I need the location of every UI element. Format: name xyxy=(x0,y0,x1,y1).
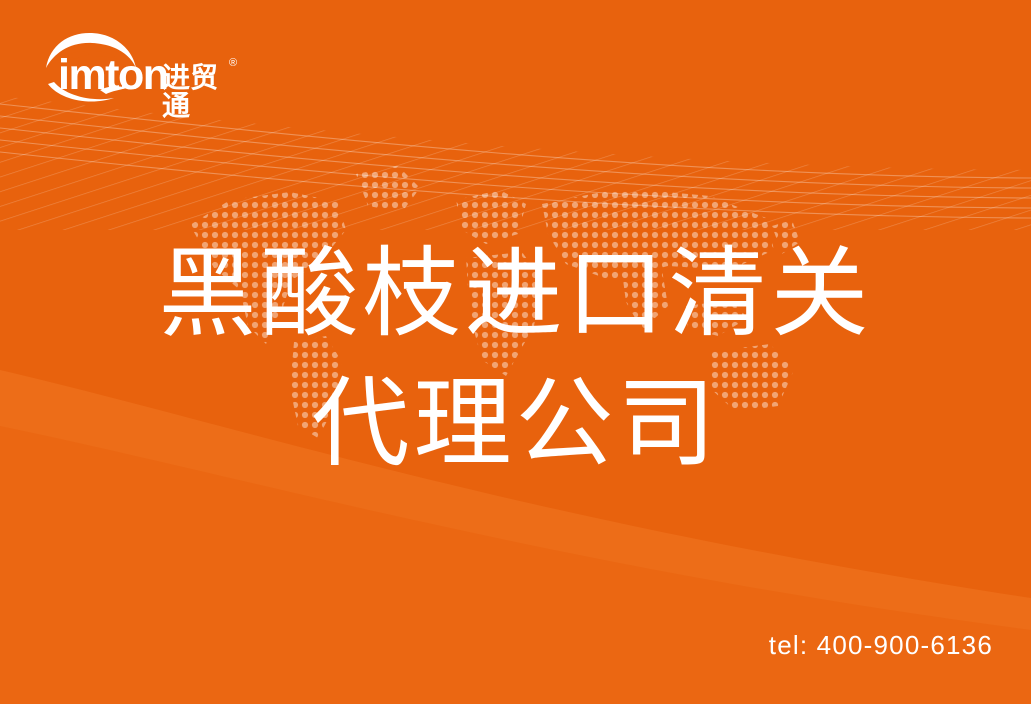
imton-logo[interactable]: imton 进贸通 ® xyxy=(34,28,244,106)
logo-chinese-name: 进贸通 xyxy=(162,64,244,120)
promo-banner: imton 进贸通 ® 黑酸枝进口清关 代理公司 tel: 400-900-61… xyxy=(0,0,1031,704)
headline-line-1: 黑酸枝进口清关 xyxy=(0,228,1031,358)
trademark-symbol: ® xyxy=(229,58,237,69)
contact-phone[interactable]: tel: 400-900-6136 xyxy=(769,632,993,658)
headline-line-2: 代理公司 xyxy=(0,358,1031,488)
page-title: 黑酸枝进口清关 代理公司 xyxy=(0,228,1031,488)
logo-wordmark: imton xyxy=(58,54,168,97)
